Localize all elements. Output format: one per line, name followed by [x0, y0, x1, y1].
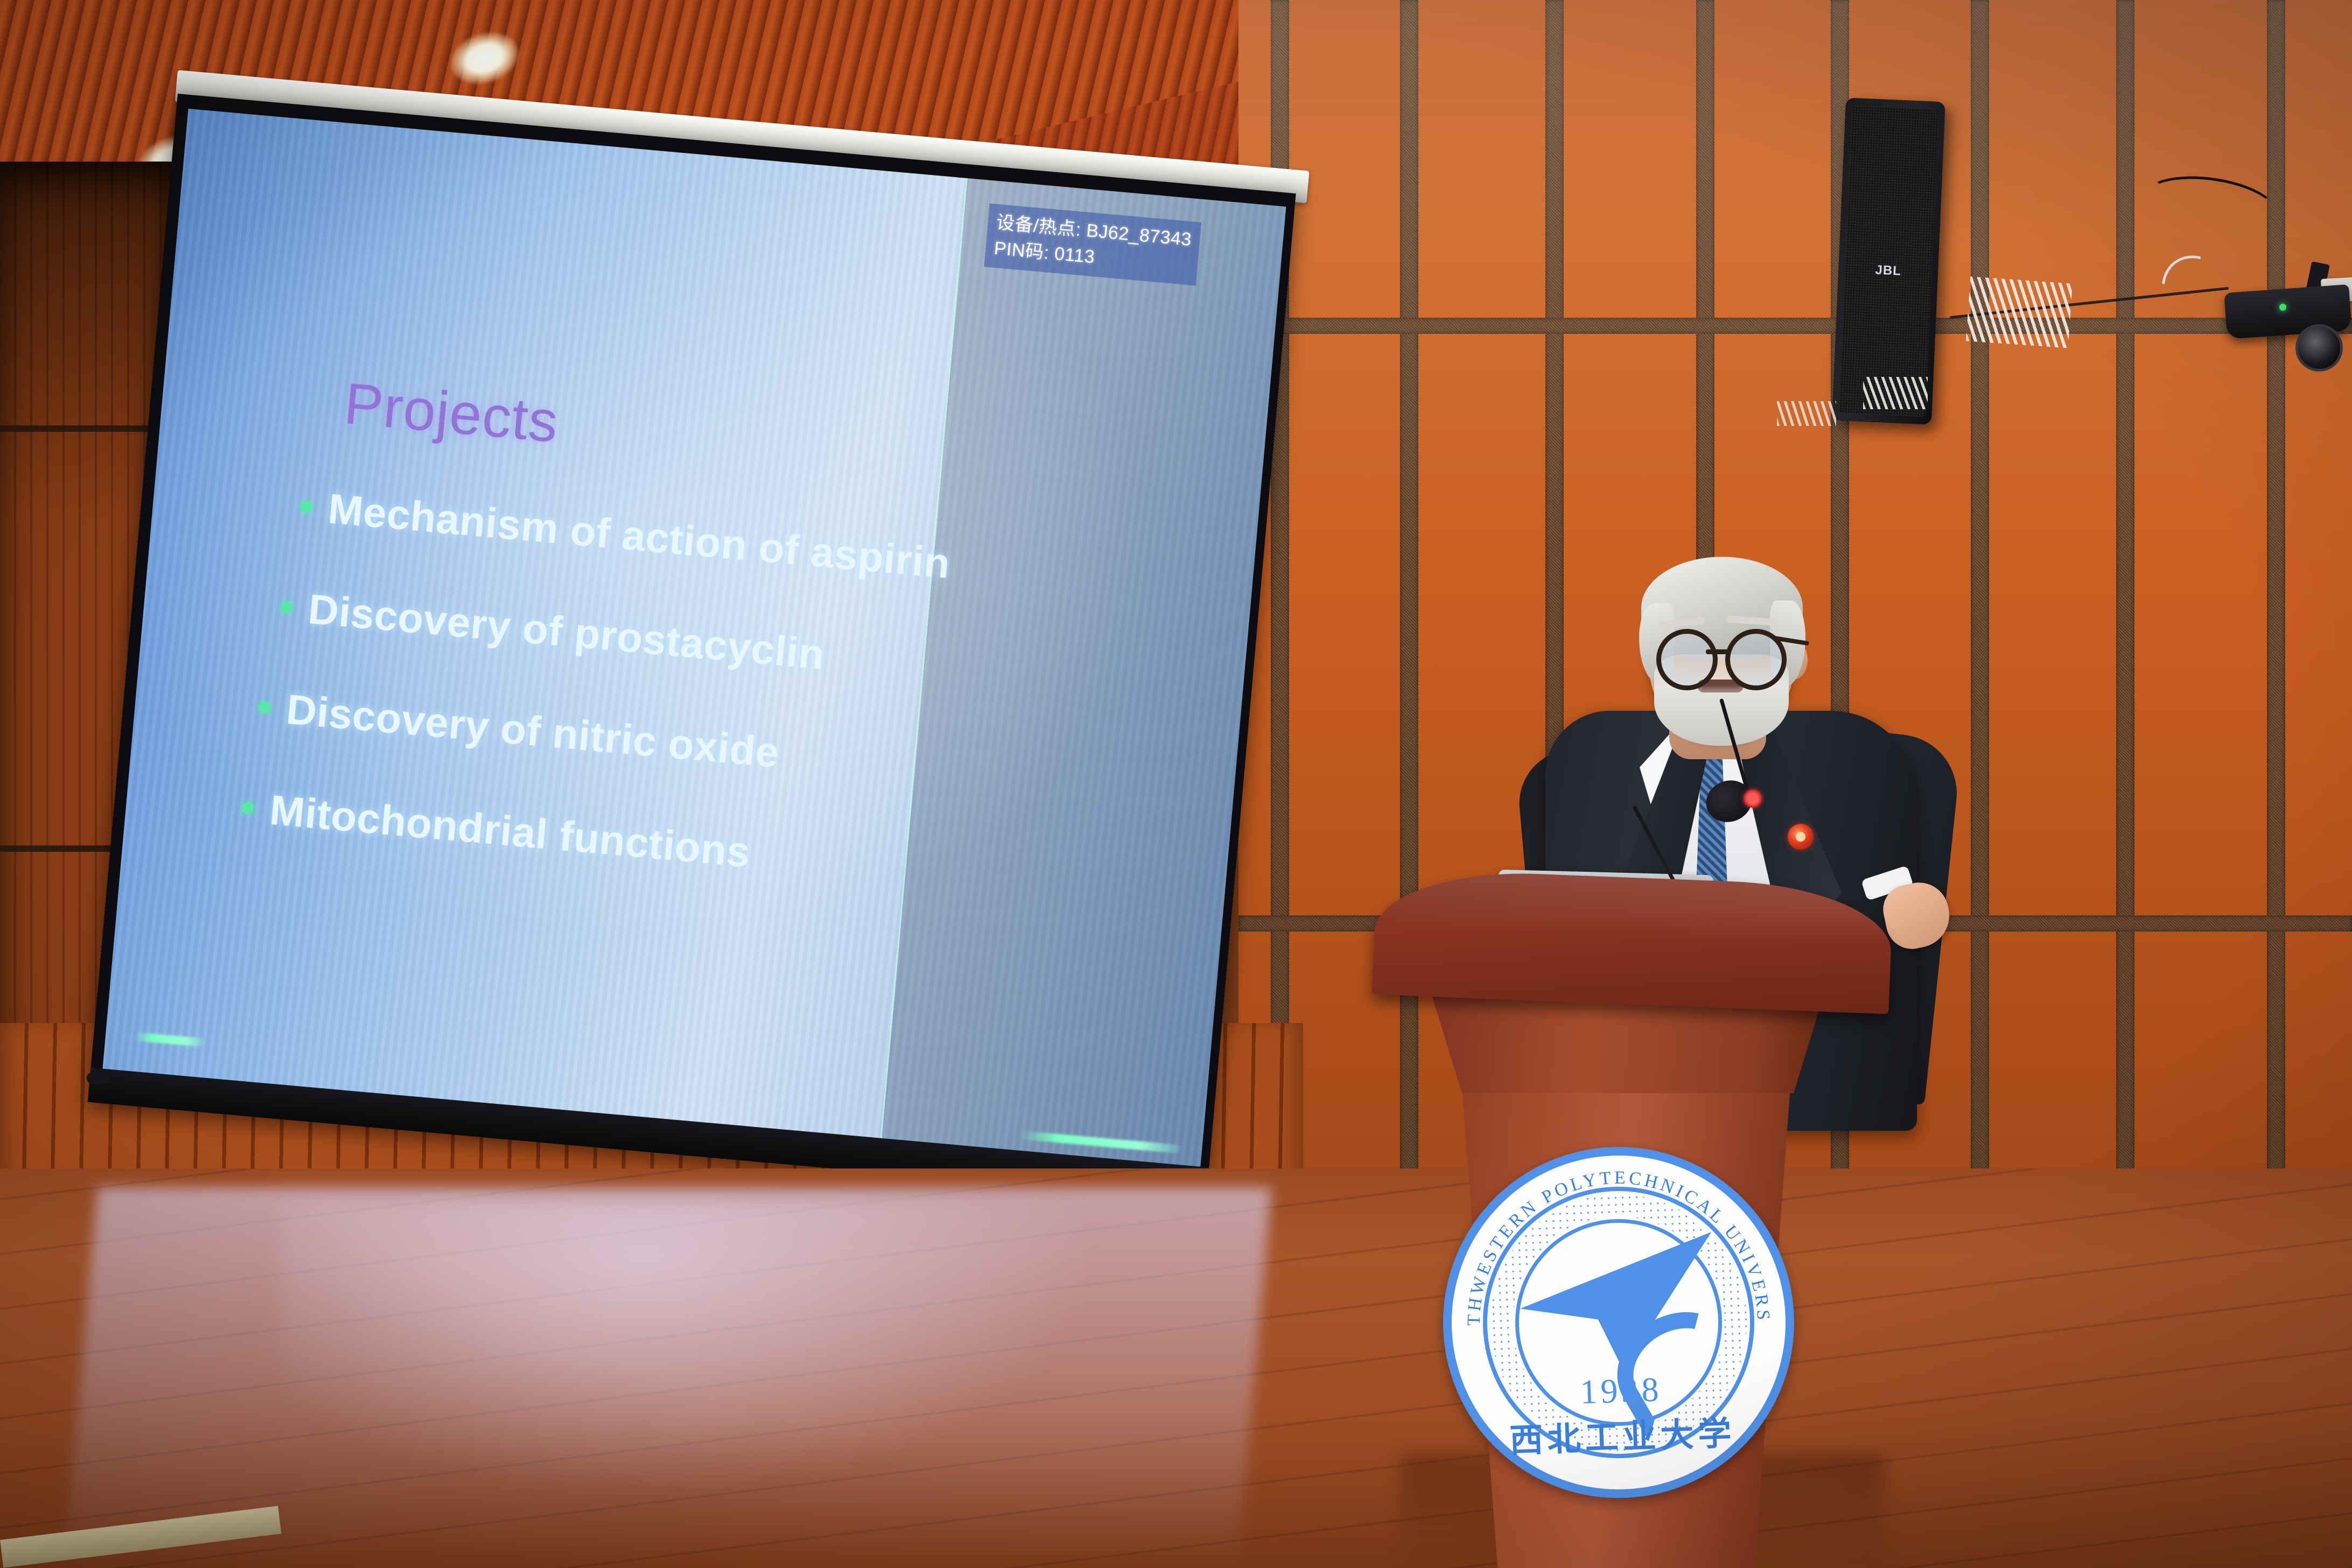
cable-bundle	[1863, 377, 1928, 409]
podium-top-panel	[1372, 868, 1893, 1014]
screen-roller-knob	[86, 1072, 111, 1086]
bullet-label: Discovery of prostacyclin	[306, 585, 827, 680]
list-item: Discovery of nitric oxide	[256, 682, 1175, 813]
cable-bundle	[1777, 401, 1836, 426]
bullet-dot-icon	[280, 601, 293, 614]
wall-strip-vertical	[2267, 0, 2285, 1271]
cable-bundle	[1966, 277, 2073, 348]
speaker-grille	[1839, 106, 1939, 417]
camera-status-led-icon	[2279, 304, 2286, 311]
camera-lens-icon	[2295, 324, 2343, 372]
slide-title: Projects	[341, 370, 561, 456]
microphone-indicator-ring	[1744, 789, 1762, 808]
bullet-dot-icon	[242, 802, 255, 815]
bullet-label: Mechanism of action of aspirin	[326, 484, 952, 589]
podium: 1938 西北工业大学 NORTHWESTERN POLYTECHNICAL U…	[1362, 878, 1901, 1568]
lapel-pin-center	[1796, 832, 1805, 842]
floor-screen-reflection-core	[280, 1201, 1088, 1492]
bullet-dot-icon	[300, 500, 313, 513]
ptz-camera	[2216, 258, 2350, 361]
bullet-label: Mitochondrial functions	[268, 786, 752, 877]
screen-frame: 设备/热点: BJ62_87343 PIN码: 0113 Projects Me…	[88, 94, 1296, 1202]
wall-strip-vertical	[1971, 0, 1989, 1271]
bullet-dot-icon	[258, 701, 271, 714]
projector-green-artifact	[134, 1032, 205, 1047]
list-item: Mitochondrial functions	[240, 783, 1167, 914]
speaker-brand-label: JBL	[1875, 263, 1902, 279]
slide-bullet-list: Mechanism of action of aspirin Discovery…	[235, 479, 1194, 967]
eyeglasses-bridge	[1706, 649, 1728, 654]
lecture-hall-photo: 设备/热点: BJ62_87343 PIN码: 0113 Projects Me…	[0, 0, 2352, 1568]
wall-strip-vertical	[2116, 0, 2134, 1271]
bullet-label: Discovery of nitric oxide	[284, 685, 781, 778]
projected-slide: 设备/热点: BJ62_87343 PIN码: 0113 Projects Me…	[102, 109, 1286, 1167]
eyeglasses-lens-left	[1656, 629, 1718, 690]
wall-speaker: JBL	[1832, 97, 1945, 424]
list-item: Discovery of prostacyclin	[278, 582, 1185, 711]
projection-screen-assembly: 设备/热点: BJ62_87343 PIN码: 0113 Projects Me…	[178, 70, 1292, 1185]
